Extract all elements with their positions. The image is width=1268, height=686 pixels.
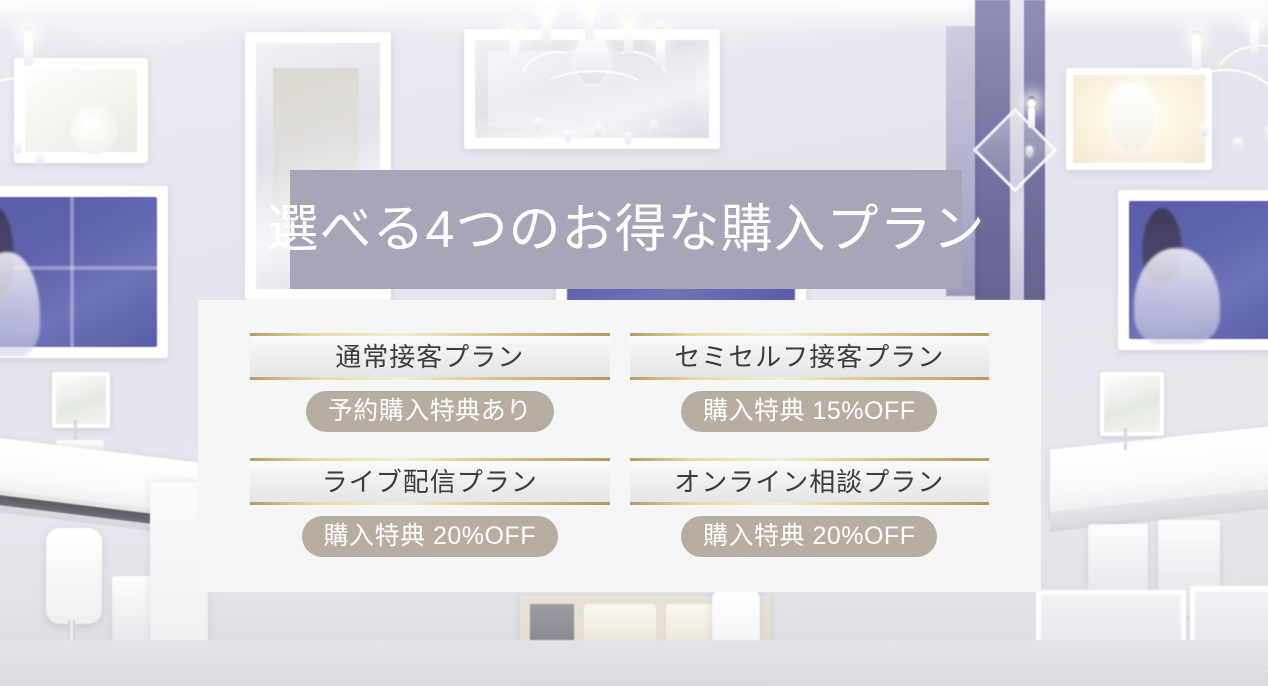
chandelier-crystal: [650, 120, 658, 133]
plan-name: オンライン相談プラン: [674, 469, 944, 495]
chandelier-right: [1180, 8, 1268, 168]
salon-chair-left: [46, 528, 102, 624]
mirror-stand: [1124, 428, 1127, 450]
plan-benefit-text: 予約購入特典あり: [328, 399, 532, 424]
plan-benefit-badge: 購入特典 20%OFF: [302, 516, 558, 557]
chandelier-flame: [655, 26, 666, 42]
chandelier-arm: [0, 71, 54, 134]
decorative-vase: [1109, 83, 1155, 153]
vanity-mirror-right: [1100, 372, 1164, 436]
plan-benefit-badge: 購入特典 15%OFF: [681, 391, 937, 432]
chandelier-crystal: [534, 118, 542, 131]
chandelier-flame: [1027, 96, 1036, 109]
plan-name: 通常接客プラン: [335, 344, 524, 370]
chandelier-crystal: [564, 130, 572, 143]
page-title: 選べる4つのお得な購入プラン: [267, 204, 986, 256]
chandelier-crystal: [14, 140, 22, 153]
chandelier-candle: [624, 28, 633, 54]
chandelier-candle: [542, 18, 551, 44]
plan-benefit-text: 購入特典 20%OFF: [324, 524, 536, 549]
chandelier-left: [0, 20, 76, 160]
chandelier-crystal: [624, 132, 632, 145]
chandelier-candle: [510, 38, 519, 64]
plan-card-livestream[interactable]: ライブ配信プラン 購入特典 20%OFF: [250, 445, 610, 570]
framed-display-left: [0, 186, 168, 358]
plan-header: 通常接客プラン: [250, 333, 610, 380]
chandelier-crystal: [1234, 138, 1242, 151]
plan-name: セミセルフ接客プラン: [674, 344, 944, 370]
chandelier-small-right: [1012, 90, 1062, 180]
chandelier-center: [512, 0, 672, 152]
plan-benefit-text: 購入特典 15%OFF: [703, 399, 915, 424]
plan-benefit-badge: 予約購入特典あり: [306, 391, 554, 432]
plan-benefit-text: 購入特典 20%OFF: [703, 524, 915, 549]
chandelier-crystal: [36, 152, 44, 165]
chandelier-flame: [1249, 14, 1260, 30]
plan-card-online[interactable]: オンライン相談プラン 購入特典 20%OFF: [630, 445, 990, 570]
chandelier-candle: [656, 40, 665, 66]
chandelier-candle: [1028, 108, 1035, 128]
chandelier-flame: [1191, 30, 1202, 46]
floor: [0, 640, 1268, 686]
chandelier-crystal: [1200, 124, 1208, 137]
chandelier-crystal: [594, 124, 602, 137]
vase-reflection: [70, 106, 118, 154]
chandelier-flame: [541, 4, 552, 20]
plan-name: ライブ配信プラン: [322, 469, 538, 495]
chandelier-flame: [584, 0, 595, 16]
chandelier-flame: [623, 14, 634, 30]
plan-header: セミセルフ接客プラン: [630, 333, 990, 380]
chandelier-candle: [1192, 44, 1201, 70]
plan-header: ライブ配信プラン: [250, 458, 610, 505]
chandelier-flame: [509, 24, 520, 40]
plan-header: オンライン相談プラン: [630, 458, 990, 505]
framed-display-right: [1118, 190, 1268, 350]
chandelier-crystal: [1026, 146, 1033, 157]
chandelier-candle: [1250, 28, 1259, 54]
chandelier-arm: [540, 70, 648, 114]
window-mullion-vertical: [70, 197, 74, 347]
promo-banner-screenshot: 選べる4つのお得な購入プラン 通常接客プラン 予約購入特典あり セミセルフ接客プ…: [0, 0, 1268, 686]
plan-benefit-badge: 購入特典 20%OFF: [681, 516, 937, 557]
plans-panel: 通常接客プラン 予約購入特典あり セミセルフ接客プラン 購入特典 15%OFF …: [198, 300, 1041, 592]
headline-banner: 選べる4つのお得な購入プラン: [290, 170, 962, 289]
chandelier-flame: [23, 26, 34, 42]
chandelier-candle: [24, 40, 33, 66]
vanity-mirror-left: [52, 372, 110, 428]
plan-card-semiself[interactable]: セミセルフ接客プラン 購入特典 15%OFF: [630, 320, 990, 445]
plan-card-normal[interactable]: 通常接客プラン 予約購入特典あり: [250, 320, 610, 445]
chandelier-candle: [585, 14, 594, 40]
